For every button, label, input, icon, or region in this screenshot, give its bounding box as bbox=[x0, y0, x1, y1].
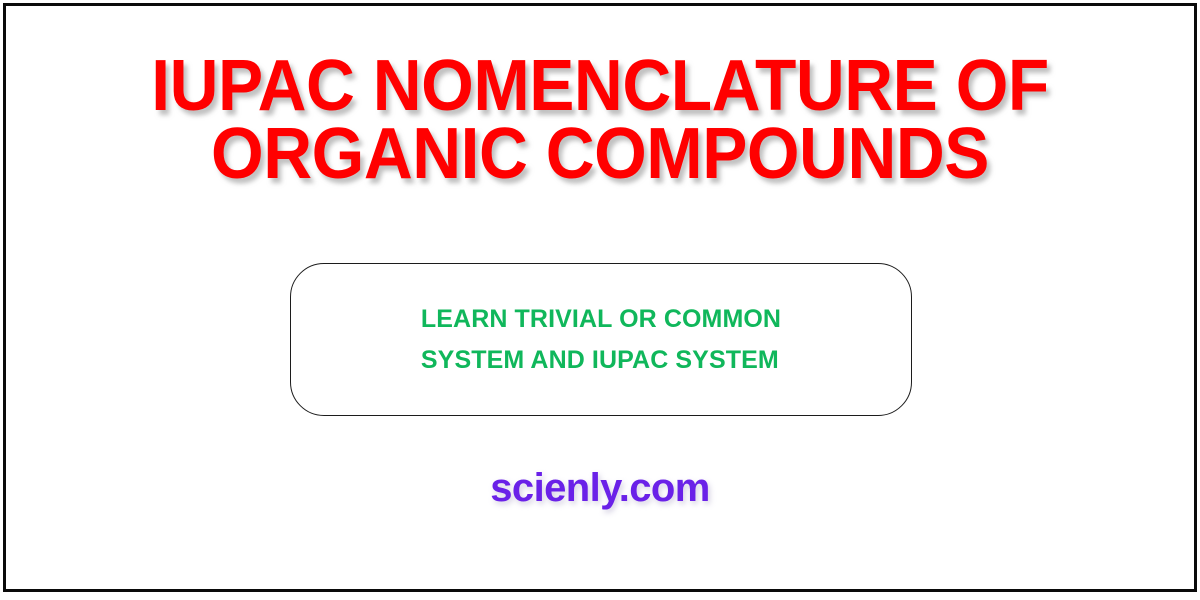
subtitle-line-2: SYSTEM AND IUPAC SYSTEM bbox=[421, 340, 781, 381]
subtitle-text: LEARN TRIVIAL OR COMMON SYSTEM AND IUPAC… bbox=[421, 299, 781, 381]
subtitle-box: LEARN TRIVIAL OR COMMON SYSTEM AND IUPAC… bbox=[290, 263, 912, 416]
page-title-line-1: IUPAC NOMENCLATURE OF bbox=[36, 52, 1164, 120]
site-url[interactable]: scienly.com bbox=[0, 464, 1200, 512]
page-title-line-2: ORGANIC COMPOUNDS bbox=[36, 120, 1164, 188]
poster-canvas: IUPAC NOMENCLATURE OF ORGANIC COMPOUNDS … bbox=[0, 0, 1200, 600]
subtitle-line-1: LEARN TRIVIAL OR COMMON bbox=[421, 299, 781, 340]
page-title: IUPAC NOMENCLATURE OF ORGANIC COMPOUNDS bbox=[36, 52, 1164, 188]
poster-content: IUPAC NOMENCLATURE OF ORGANIC COMPOUNDS … bbox=[0, 0, 1200, 600]
